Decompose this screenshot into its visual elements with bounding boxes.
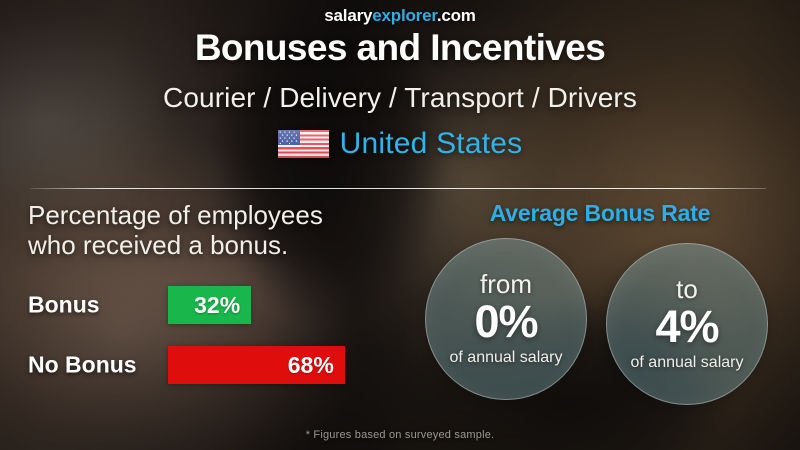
- job-category-subtitle: Courier / Delivery / Transport / Drivers: [0, 82, 800, 114]
- rate-value-from: 0%: [474, 298, 537, 347]
- bar-track-bonus: 32%: [168, 286, 428, 324]
- bar-fill-bonus: 32%: [168, 286, 251, 324]
- bonus-infographic: salaryexplorer.com Bonuses and Incentive…: [0, 0, 800, 450]
- footnote: * Figures based on surveyed sample.: [0, 429, 800, 441]
- rate-prefix-from: from: [480, 271, 532, 297]
- page-title: Bonuses and Incentives: [0, 27, 800, 69]
- bar-row-no-bonus: No Bonus 68%: [28, 346, 428, 384]
- rate-circles: from 0% of annual salary to 4% of annual…: [420, 238, 780, 408]
- bonus-percentage-heading: Percentage of employees who received a b…: [28, 200, 428, 260]
- bonus-heading-line1: Percentage of employees: [28, 200, 323, 230]
- bar-fill-no-bonus: 68%: [168, 346, 345, 384]
- logo-text-tld: .com: [437, 6, 476, 25]
- site-logo[interactable]: salaryexplorer.com: [0, 6, 800, 26]
- united-states-flag-icon: [278, 130, 329, 158]
- bar-track-no-bonus: 68%: [168, 346, 428, 384]
- bar-value-bonus: 32%: [194, 292, 240, 319]
- flag-gloss: [278, 130, 329, 158]
- rate-sub-from: of annual salary: [450, 349, 563, 367]
- bonus-heading-line2: who received a bonus.: [28, 230, 288, 260]
- bar-label-bonus: Bonus: [28, 292, 100, 319]
- bar-row-bonus: Bonus 32%: [28, 286, 428, 324]
- country-row: United States: [0, 127, 800, 161]
- average-bonus-rate-heading: Average Bonus Rate: [420, 200, 780, 227]
- logo-text-explorer: explorer: [372, 6, 437, 25]
- bar-label-no-bonus: No Bonus: [28, 352, 137, 379]
- country-name: United States: [340, 127, 523, 161]
- rate-circle-from: from 0% of annual salary: [425, 238, 587, 400]
- logo-text-salary: salary: [324, 6, 372, 25]
- bonus-percentage-panel: Percentage of employees who received a b…: [28, 200, 428, 260]
- rate-prefix-to: to: [676, 276, 698, 302]
- rate-circle-to: to 4% of annual salary: [606, 243, 768, 405]
- bar-value-no-bonus: 68%: [288, 352, 334, 379]
- rate-sub-to: of annual salary: [631, 354, 744, 372]
- average-bonus-rate-panel: Average Bonus Rate from 0% of annual sal…: [420, 200, 780, 227]
- rate-value-to: 4%: [655, 303, 718, 352]
- bonus-bar-chart: Bonus 32% No Bonus 68%: [28, 286, 428, 406]
- header-divider: [30, 188, 766, 189]
